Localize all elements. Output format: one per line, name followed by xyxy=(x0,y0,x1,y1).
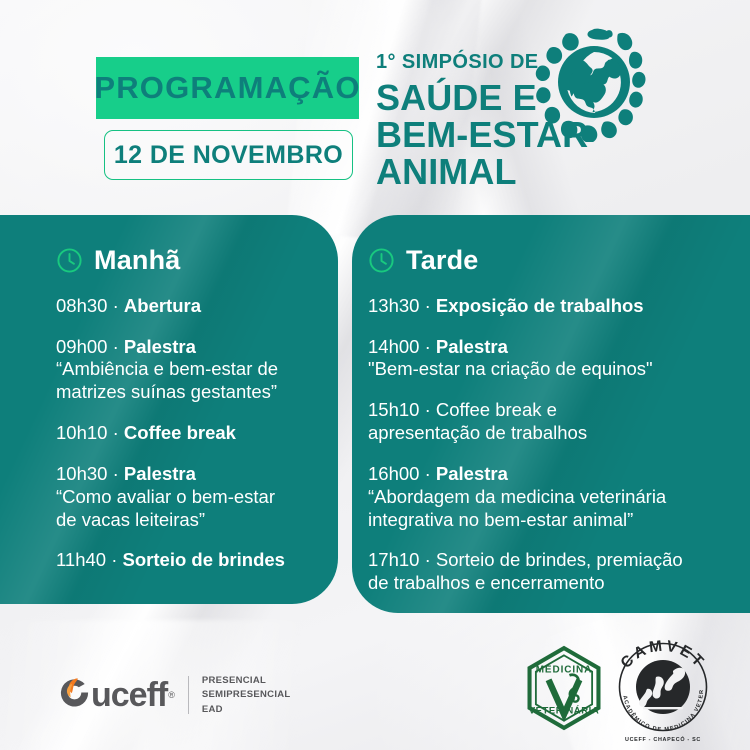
uceff-text: uceff xyxy=(91,678,167,712)
schedule-item-title: Sorteio de brindes, premiação xyxy=(436,549,683,570)
schedule-item-separator: · xyxy=(113,422,119,443)
schedule-item-separator: · xyxy=(113,295,119,316)
schedule-panel-morning: Manhã 08h30 · Abertura 09h00 · Palestra xyxy=(0,215,338,604)
program-label: PROGRAMAÇÃO xyxy=(94,70,360,106)
schedule-item-time: 09h00 xyxy=(56,336,107,357)
schedule-item-separator: · xyxy=(113,336,119,357)
schedule-item-separator: · xyxy=(113,463,119,484)
uceff-registered-mark: ® xyxy=(168,690,175,700)
schedule-item: 11h40 · Sorteio de brindes xyxy=(56,548,318,572)
date-badge: 12 DE NOVEMBRO xyxy=(104,130,353,180)
schedule-item-description: “Ambiência e bem-estar de matrizes suína… xyxy=(56,358,318,404)
schedule-item-title: Sorteio de brindes xyxy=(123,549,285,570)
schedule-item-description: “Como avaliar o bem-estar de vacas leite… xyxy=(56,486,318,532)
schedule-item: 16h00 · Palestra “Abordagem da medicina … xyxy=(368,462,750,532)
schedule-item-title: Palestra xyxy=(124,463,196,484)
schedule-item-heading: 10h30 · Palestra xyxy=(56,462,318,486)
schedule-item-time: 11h40 xyxy=(56,549,106,570)
schedule-item: 13h30 · Exposição de trabalhos xyxy=(368,294,750,318)
header: PROGRAMAÇÃO 12 DE NOVEMBRO 1° SIMPÓSIO D… xyxy=(0,0,750,215)
schedule-item-description-line: apresentação de trabalhos xyxy=(368,422,750,445)
uceff-modality: EAD xyxy=(202,703,291,717)
schedule-item-description-line: matrizes suínas gestantes” xyxy=(56,381,318,404)
uceff-flame-icon xyxy=(58,676,91,714)
schedule-item: 17h10 · Sorteio de brindes, premiação de… xyxy=(368,548,750,595)
schedule-item-title: Palestra xyxy=(124,336,196,357)
schedule-item-separator: · xyxy=(425,336,431,357)
schedule-item: 14h00 · Palestra "Bem-estar na criação d… xyxy=(368,335,750,382)
column-label-morning: Manhã xyxy=(94,245,181,276)
uceff-divider xyxy=(188,676,189,714)
schedule-item-description-line: de trabalhos e encerramento xyxy=(368,572,750,595)
schedule-panel-afternoon: Tarde 13h30 · Exposição de trabalhos 14h… xyxy=(352,215,750,613)
schedule-item-heading: 13h30 · Exposição de trabalhos xyxy=(368,294,750,318)
schedule-item: 10h10 · Coffee break xyxy=(56,421,318,445)
event-title-line-3: ANIMAL xyxy=(376,153,588,190)
poster-canvas: PROGRAMAÇÃO 12 DE NOVEMBRO 1° SIMPÓSIO D… xyxy=(0,0,750,750)
date-label: 12 DE NOVEMBRO xyxy=(114,141,343,170)
uceff-modality: PRESENCIAL xyxy=(202,674,291,688)
schedule-item-description-line: “Abordagem da medicina veterinária xyxy=(368,486,750,509)
schedule-item-heading: 11h40 · Sorteio de brindes xyxy=(56,548,318,572)
schedule-item-title: Palestra xyxy=(436,336,508,357)
schedule-item-time: 13h30 xyxy=(368,295,419,316)
schedule-item-separator: · xyxy=(111,549,117,570)
schedule-item-separator: · xyxy=(425,295,431,316)
schedule-item-time: 14h00 xyxy=(368,336,419,357)
uceff-wordmark: uceff ® xyxy=(58,676,175,714)
column-header-afternoon: Tarde xyxy=(368,245,750,276)
schedule-item-title: Exposição de trabalhos xyxy=(436,295,644,316)
schedule-item-title: Abertura xyxy=(124,295,201,316)
column-label-afternoon: Tarde xyxy=(406,245,479,276)
schedule-item-description: apresentação de trabalhos xyxy=(368,422,750,445)
schedule-item-description-line: “Como avaliar o bem-estar xyxy=(56,486,318,509)
schedule-item-description: “Abordagem da medicina veterinária integ… xyxy=(368,486,750,532)
schedule-item-heading: 14h00 · Palestra xyxy=(368,335,750,359)
schedule-item: 08h30 · Abertura xyxy=(56,294,318,318)
schedule-item-heading: 16h00 · Palestra xyxy=(368,462,750,486)
schedule-item-separator: · xyxy=(425,399,431,420)
footer: uceff ® PRESENCIAL SEMIPRESENCIAL EAD ME… xyxy=(0,613,750,750)
vet-hexagon-badge-icon: MEDICINA VETERINÁRIA xyxy=(525,645,603,731)
camvet-subtitle: UCEFF - CHAPECÓ - SC xyxy=(625,735,701,743)
schedule-item-separator: · xyxy=(425,549,431,570)
schedule-items-morning: 08h30 · Abertura 09h00 · Palestra “Ambiê… xyxy=(56,294,318,572)
uceff-modalities: PRESENCIAL SEMIPRESENCIAL EAD xyxy=(202,674,291,717)
schedule-item-title: Coffee break xyxy=(124,422,236,443)
schedule-item-heading: 10h10 · Coffee break xyxy=(56,421,318,445)
uceff-modality: SEMIPRESENCIAL xyxy=(202,688,291,702)
schedule-item-description-line: “Ambiência e bem-estar de xyxy=(56,358,318,381)
schedule-item-time: 15h10 xyxy=(368,399,419,420)
schedule-item-time: 16h00 xyxy=(368,463,419,484)
clock-icon xyxy=(56,247,83,274)
schedule-item-title: Coffee break e xyxy=(436,399,557,420)
schedule-item: 09h00 · Palestra “Ambiência e bem-estar … xyxy=(56,335,318,405)
schedule-items-afternoon: 13h30 · Exposição de trabalhos 14h00 · P… xyxy=(368,294,750,595)
camvet-seal-icon: CAMVET CENTRO ACADÊMICO DE MEDICINA VETE… xyxy=(607,633,719,745)
schedule-item: 10h30 · Palestra “Como avaliar o bem-est… xyxy=(56,462,318,532)
schedule-item-title: Palestra xyxy=(436,463,508,484)
schedule-item-description: de trabalhos e encerramento xyxy=(368,572,750,595)
schedule-item: 15h10 · Coffee break e apresentação de t… xyxy=(368,398,750,445)
schedule-item-heading: 17h10 · Sorteio de brindes, premiação xyxy=(368,548,750,572)
svg-text:VETERINÁRIA: VETERINÁRIA xyxy=(529,705,600,716)
uceff-logo: uceff ® PRESENCIAL SEMIPRESENCIAL EAD xyxy=(58,674,291,717)
schedule-item-heading: 09h00 · Palestra xyxy=(56,335,318,359)
schedule-item-time: 10h10 xyxy=(56,422,107,443)
schedule-item-separator: · xyxy=(425,463,431,484)
svg-text:MEDICINA: MEDICINA xyxy=(536,665,593,676)
globe-animals-icon xyxy=(534,22,654,142)
schedule-item-time: 08h30 xyxy=(56,295,107,316)
schedule-item-description-line: integrativa no bem-estar animal” xyxy=(368,509,750,532)
program-banner: PROGRAMAÇÃO xyxy=(96,57,359,119)
schedule-item-heading: 08h30 · Abertura xyxy=(56,294,318,318)
schedule-item-time: 17h10 xyxy=(368,549,419,570)
clock-icon xyxy=(368,247,395,274)
schedule-item-description-line: de vacas leiteiras” xyxy=(56,509,318,532)
schedule-item-description-line: "Bem-estar na criação de equinos" xyxy=(368,358,750,381)
schedule-item-heading: 15h10 · Coffee break e xyxy=(368,398,750,422)
schedule-item-description: "Bem-estar na criação de equinos" xyxy=(368,358,750,381)
column-header-morning: Manhã xyxy=(56,245,318,276)
schedule-item-time: 10h30 xyxy=(56,463,107,484)
